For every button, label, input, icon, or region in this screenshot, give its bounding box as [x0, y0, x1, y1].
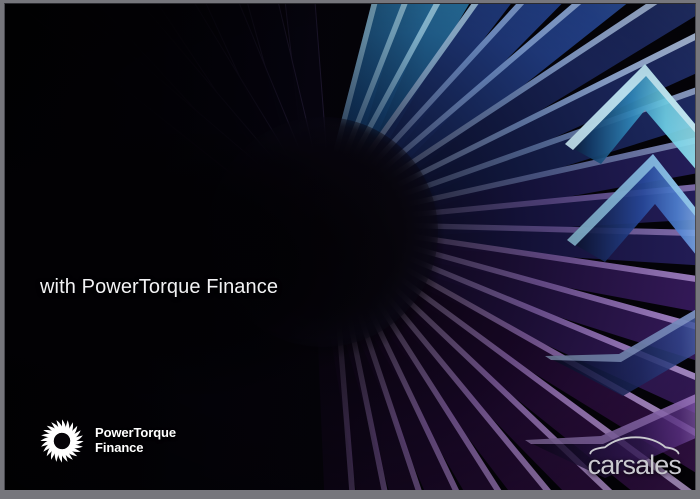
- powertorque-wordmark: PowerTorque Finance: [95, 426, 176, 455]
- carsales-logo[interactable]: carsales: [588, 435, 681, 479]
- carsales-wordmark: carsales: [588, 452, 681, 479]
- powertorque-finance-logo[interactable]: PowerTorque Finance: [38, 417, 176, 465]
- headline-line-2: WHEEL QUICKER: [40, 222, 373, 260]
- banner-canvas: GET BEHIND THE WHEEL QUICKER with PowerT…: [4, 3, 696, 490]
- subheadline: with PowerTorque Finance: [40, 276, 373, 299]
- powertorque-wordmark-line-1: PowerTorque: [95, 426, 176, 441]
- powertorque-wordmark-line-2: Finance: [95, 441, 176, 456]
- turbine-aperture-icon: [38, 417, 86, 465]
- headline-line-1: GET BEHIND THE: [40, 182, 373, 220]
- headline: GET BEHIND THE WHEEL QUICKER: [40, 182, 373, 261]
- ad-banner[interactable]: GET BEHIND THE WHEEL QUICKER with PowerT…: [0, 0, 700, 499]
- ad-copy-block: GET BEHIND THE WHEEL QUICKER with PowerT…: [40, 182, 373, 299]
